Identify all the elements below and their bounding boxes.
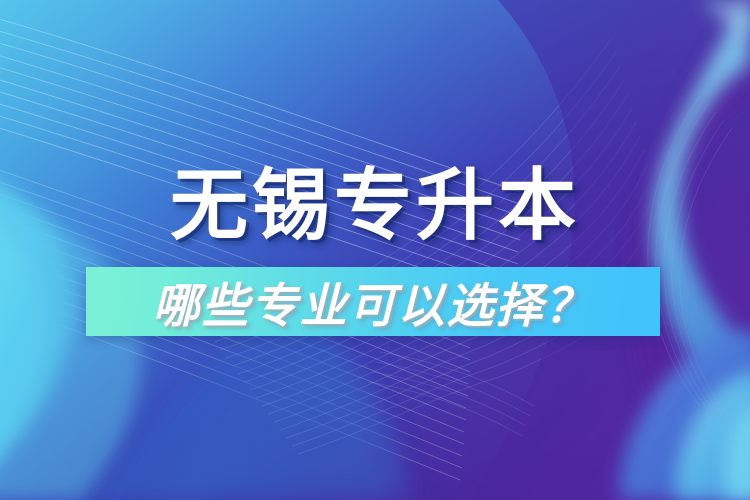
subtitle-highlight-bar [86, 267, 660, 336]
background-artwork [0, 0, 750, 500]
promo-banner: 无锡专升本 哪些专业可以选择？ [0, 0, 750, 500]
